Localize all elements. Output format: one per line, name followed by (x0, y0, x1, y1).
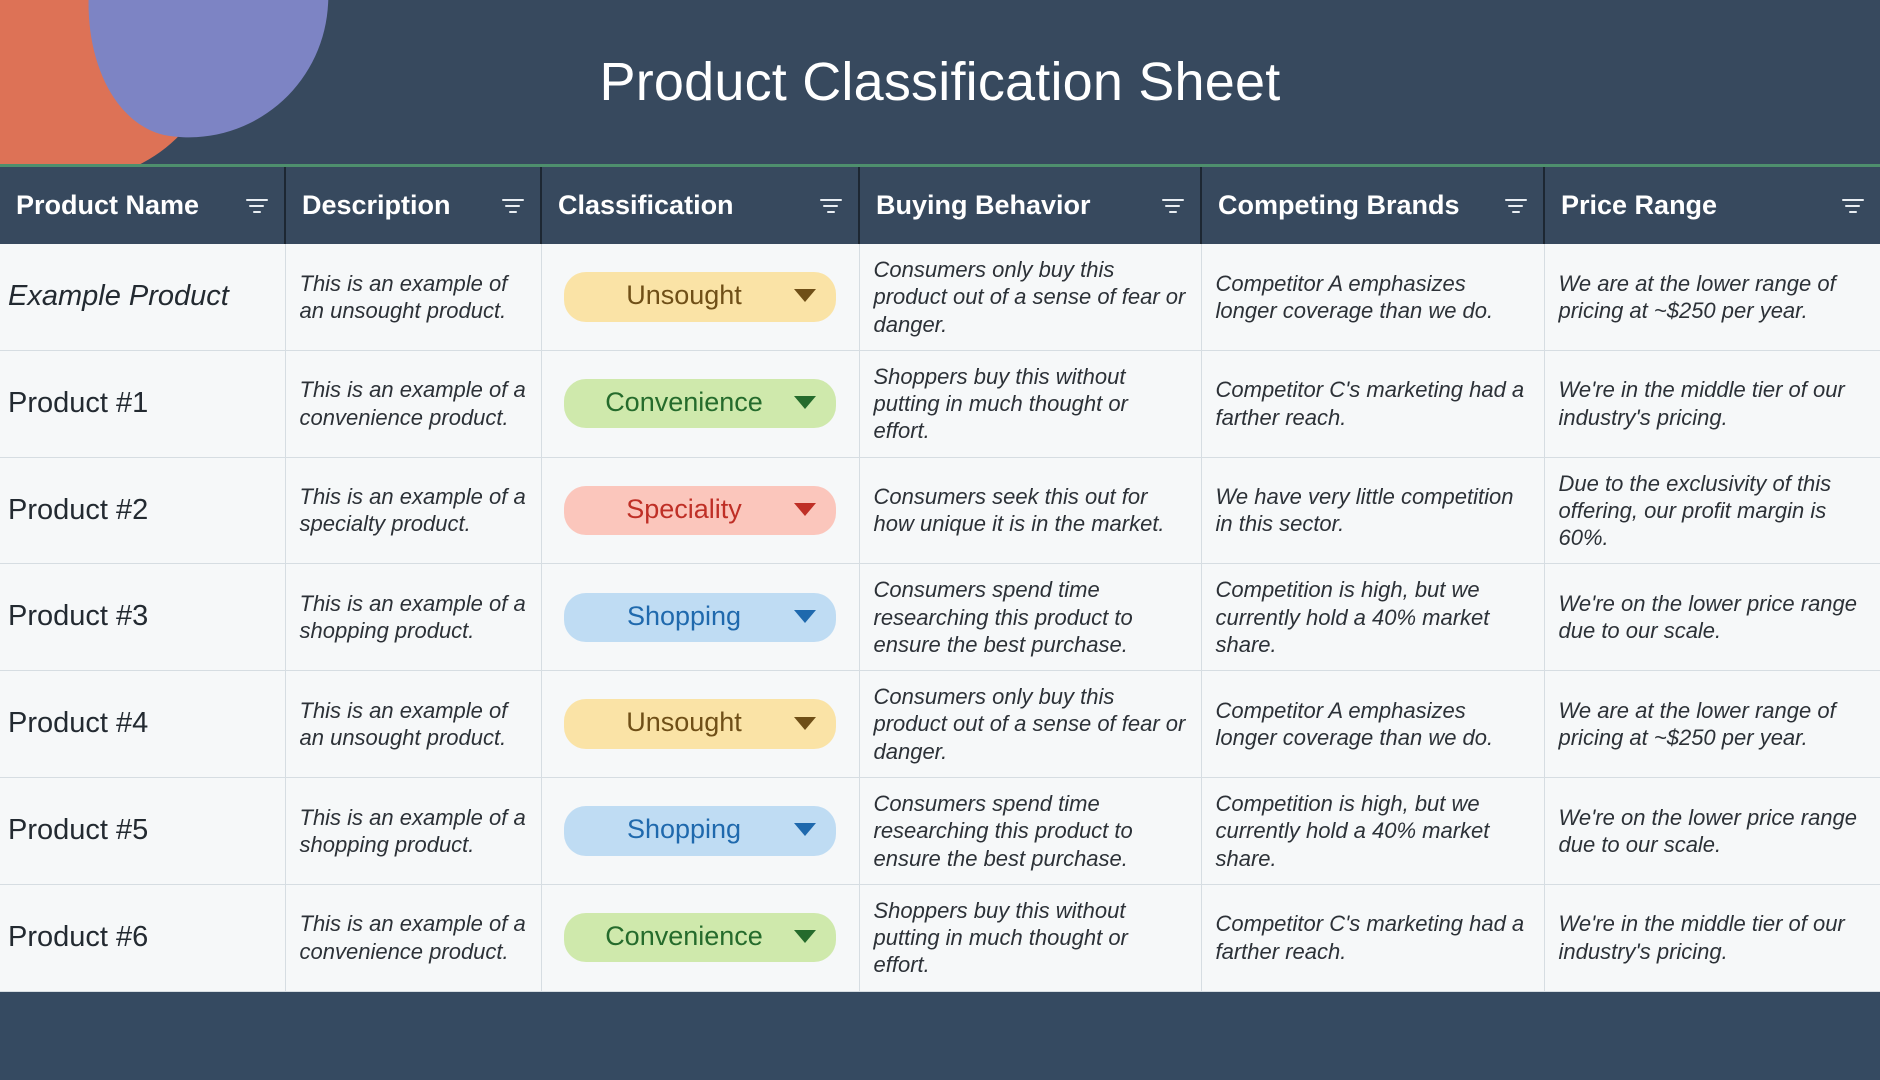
chevron-down-icon[interactable] (794, 289, 816, 302)
classification-dropdown[interactable]: Shopping (564, 593, 836, 642)
cell-price-range: We're on the lower price range due to ou… (1544, 777, 1880, 884)
cell-buying-behavior: Consumers spend time researching this pr… (859, 777, 1201, 884)
cell-description: This is an example of a specialty produc… (285, 457, 541, 564)
classification-value: Convenience (586, 920, 782, 953)
chevron-down-icon[interactable] (794, 396, 816, 409)
column-header-classification[interactable]: Classification (541, 167, 859, 244)
column-header-label: Description (302, 190, 451, 221)
classification-value: Unsought (586, 706, 782, 739)
cell-price-range: We are at the lower range of pricing at … (1544, 671, 1880, 778)
classification-value: Unsought (586, 279, 782, 312)
cell-buying-behavior: Consumers spend time researching this pr… (859, 564, 1201, 671)
cell-competing-brands: Competition is high, but we currently ho… (1201, 777, 1544, 884)
cell-competing-brands: Competitor A emphasizes longer coverage … (1201, 244, 1544, 350)
classification-value: Shopping (586, 600, 782, 633)
cell-price-range: We're in the middle tier of our industry… (1544, 350, 1880, 457)
column-header-product_name[interactable]: Product Name (0, 167, 285, 244)
cell-buying-behavior: Consumers only buy this product out of a… (859, 671, 1201, 778)
cell-classification: Unsought (541, 244, 859, 350)
cell-price-range: Due to the exclusivity of this offering,… (1544, 457, 1880, 564)
cell-description: This is an example of an unsought produc… (285, 244, 541, 350)
filter-icon[interactable] (1162, 197, 1184, 215)
cell-product-name: Product #2 (0, 457, 285, 564)
cell-buying-behavior: Consumers only buy this product out of a… (859, 244, 1201, 350)
cell-price-range: We're in the middle tier of our industry… (1544, 884, 1880, 991)
cell-description: This is an example of a shopping product… (285, 564, 541, 671)
cell-buying-behavior: Shoppers buy this without putting in muc… (859, 884, 1201, 991)
page-banner: Product Classification Sheet (0, 0, 1880, 164)
chevron-down-icon[interactable] (794, 717, 816, 730)
classification-dropdown[interactable]: Convenience (564, 913, 836, 962)
column-header-label: Product Name (16, 190, 199, 221)
column-header-label: Competing Brands (1218, 190, 1460, 221)
filter-icon[interactable] (1505, 197, 1527, 215)
cell-description: This is an example of a convenience prod… (285, 884, 541, 991)
classification-value: Speciality (586, 493, 782, 526)
chevron-down-icon[interactable] (794, 610, 816, 623)
column-header-buying_behavior[interactable]: Buying Behavior (859, 167, 1201, 244)
table-row: Product #5This is an example of a shoppi… (0, 777, 1880, 884)
cell-product-name: Product #4 (0, 671, 285, 778)
table-header: Product NameDescriptionClassificationBuy… (0, 167, 1880, 244)
table-row: Product #1This is an example of a conven… (0, 350, 1880, 457)
table-row: Product #2This is an example of a specia… (0, 457, 1880, 564)
chevron-down-icon[interactable] (794, 823, 816, 836)
column-header-label: Classification (558, 190, 734, 221)
classification-dropdown[interactable]: Shopping (564, 806, 836, 855)
classification-dropdown[interactable]: Unsought (564, 699, 836, 748)
cell-classification: Shopping (541, 564, 859, 671)
cell-product-name: Product #6 (0, 884, 285, 991)
page-title: Product Classification Sheet (0, 0, 1880, 164)
cell-product-name: Product #1 (0, 350, 285, 457)
cell-competing-brands: Competitor C's marketing had a farther r… (1201, 350, 1544, 457)
cell-competing-brands: Competitor C's marketing had a farther r… (1201, 884, 1544, 991)
cell-classification: Convenience (541, 884, 859, 991)
column-header-competing_brands[interactable]: Competing Brands (1201, 167, 1544, 244)
classification-value: Shopping (586, 813, 782, 846)
cell-product-name: Product #3 (0, 564, 285, 671)
cell-buying-behavior: Shoppers buy this without putting in muc… (859, 350, 1201, 457)
cell-classification: Convenience (541, 350, 859, 457)
column-header-label: Buying Behavior (876, 190, 1091, 221)
filter-icon[interactable] (502, 197, 524, 215)
cell-price-range: We are at the lower range of pricing at … (1544, 244, 1880, 350)
cell-classification: Unsought (541, 671, 859, 778)
column-header-label: Price Range (1561, 190, 1717, 221)
classification-dropdown[interactable]: Unsought (564, 272, 836, 321)
cell-competing-brands: Competition is high, but we currently ho… (1201, 564, 1544, 671)
column-header-price_range[interactable]: Price Range (1544, 167, 1880, 244)
product-classification-sheet: Product Classification Sheet Product Nam… (0, 0, 1880, 1080)
filter-icon[interactable] (246, 197, 268, 215)
chevron-down-icon[interactable] (794, 930, 816, 943)
table-body: Example ProductThis is an example of an … (0, 244, 1880, 991)
table-row: Example ProductThis is an example of an … (0, 244, 1880, 350)
table-header-row: Product NameDescriptionClassificationBuy… (0, 167, 1880, 244)
cell-competing-brands: We have very little competition in this … (1201, 457, 1544, 564)
cell-description: This is an example of a convenience prod… (285, 350, 541, 457)
chevron-down-icon[interactable] (794, 503, 816, 516)
cell-competing-brands: Competitor A emphasizes longer coverage … (1201, 671, 1544, 778)
table-row: Product #4This is an example of an unsou… (0, 671, 1880, 778)
filter-icon[interactable] (820, 197, 842, 215)
classification-value: Convenience (586, 386, 782, 419)
filter-icon[interactable] (1842, 197, 1864, 215)
classification-dropdown[interactable]: Convenience (564, 379, 836, 428)
cell-product-name: Product #5 (0, 777, 285, 884)
table-row: Product #3This is an example of a shoppi… (0, 564, 1880, 671)
cell-product-name: Example Product (0, 244, 285, 350)
cell-buying-behavior: Consumers seek this out for how unique i… (859, 457, 1201, 564)
cell-price-range: We're on the lower price range due to ou… (1544, 564, 1880, 671)
classification-dropdown[interactable]: Speciality (564, 486, 836, 535)
cell-classification: Speciality (541, 457, 859, 564)
cell-classification: Shopping (541, 777, 859, 884)
column-header-description[interactable]: Description (285, 167, 541, 244)
classification-table: Product NameDescriptionClassificationBuy… (0, 167, 1880, 992)
table-row: Product #6This is an example of a conven… (0, 884, 1880, 991)
cell-description: This is an example of an unsought produc… (285, 671, 541, 778)
cell-description: This is an example of a shopping product… (285, 777, 541, 884)
